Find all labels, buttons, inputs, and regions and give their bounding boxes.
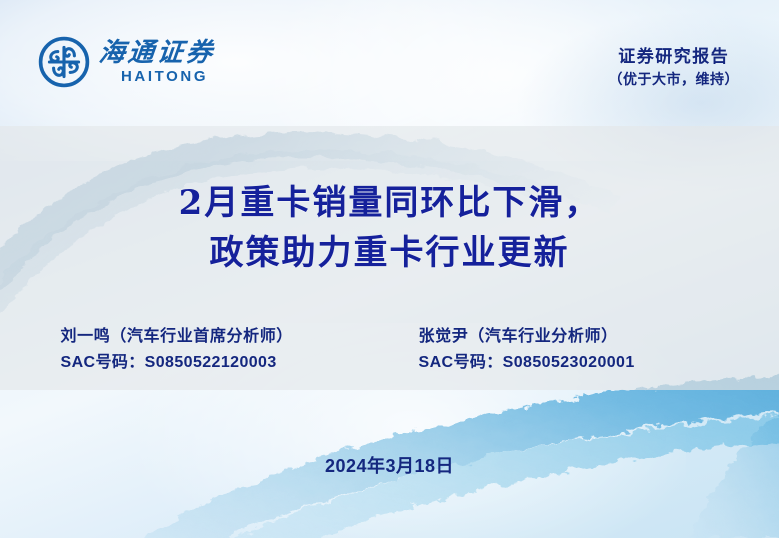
haitong-circular-knot-emblem	[38, 36, 90, 88]
logo-wordmark: 海通证券 HAITONG	[99, 40, 215, 84]
analyst-entry-2: 张觉尹（汽车行业分析师） SAC号码：S0850523020001	[419, 322, 719, 376]
analyst-list: 刘一鸣（汽车行业首席分析师） SAC号码：S0850522120003 张觉尹（…	[0, 322, 779, 376]
analyst-entry-1: 刘一鸣（汽车行业首席分析师） SAC号码：S0850522120003	[61, 322, 361, 376]
title-line-2: 政策助力重卡行业更新	[0, 228, 779, 278]
report-kicker: 证券研究报告 （优于大市，维持）	[609, 44, 740, 92]
logo-name-en: HAITONG	[99, 69, 215, 84]
report-cover: 海通证券 HAITONG 证券研究报告 （优于大市，维持） 2月重卡销量同环比下…	[0, 0, 779, 538]
report-date: 2024年3月18日	[0, 452, 779, 478]
analyst-sac-1: SAC号码：S0850522120003	[61, 349, 361, 376]
page-title: 2月重卡销量同环比下滑， 政策助力重卡行业更新	[0, 178, 779, 279]
title-line-1: 2月重卡销量同环比下滑，	[0, 178, 779, 228]
logo-name-cn: 海通证券	[98, 40, 217, 66]
report-type-label: 证券研究报告	[609, 44, 740, 70]
haitong-logo: 海通证券 HAITONG	[38, 36, 215, 88]
analyst-name-2: 张觉尹（汽车行业分析师）	[419, 322, 719, 349]
analyst-sac-2: SAC号码：S0850523020001	[419, 349, 719, 376]
rating-label: （优于大市，维持）	[609, 70, 740, 92]
analyst-name-1: 刘一鸣（汽车行业首席分析师）	[61, 322, 361, 349]
